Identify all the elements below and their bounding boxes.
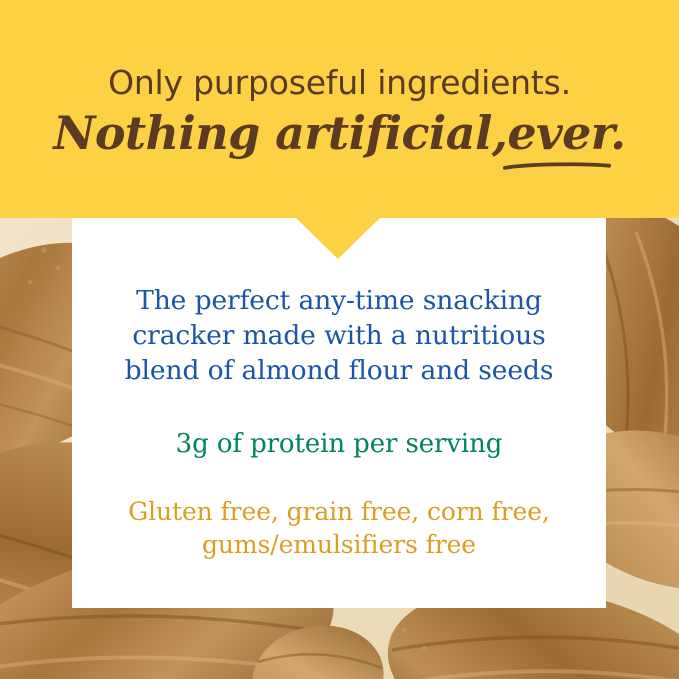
banner-notch-icon bbox=[295, 217, 381, 259]
protein-claim: 3g of protein per serving bbox=[176, 428, 503, 462]
headline-line-2-plain: Nothing artificial, bbox=[53, 108, 507, 160]
headline-line-1: Only purposeful ingredients. bbox=[108, 65, 571, 102]
headline-group: Only purposeful ingredients. Nothing art… bbox=[0, 0, 679, 218]
headline-line-2-emphasis: ever. bbox=[507, 106, 625, 160]
claims-card: The perfect any-time snacking cracker ma… bbox=[72, 218, 606, 608]
free-from-claim: Gluten free, grain free, corn free, gums… bbox=[104, 495, 574, 561]
headline-banner: Only purposeful ingredients. Nothing art… bbox=[0, 0, 679, 218]
product-feature-graphic: Only purposeful ingredients. Nothing art… bbox=[0, 0, 679, 679]
product-description: The perfect any-time snacking cracker ma… bbox=[104, 284, 574, 389]
hand-drawn-underline-icon bbox=[503, 161, 611, 170]
headline-emphasis-group: ever. bbox=[507, 108, 625, 162]
headline-line-2: Nothing artificial, ever. bbox=[53, 108, 625, 162]
